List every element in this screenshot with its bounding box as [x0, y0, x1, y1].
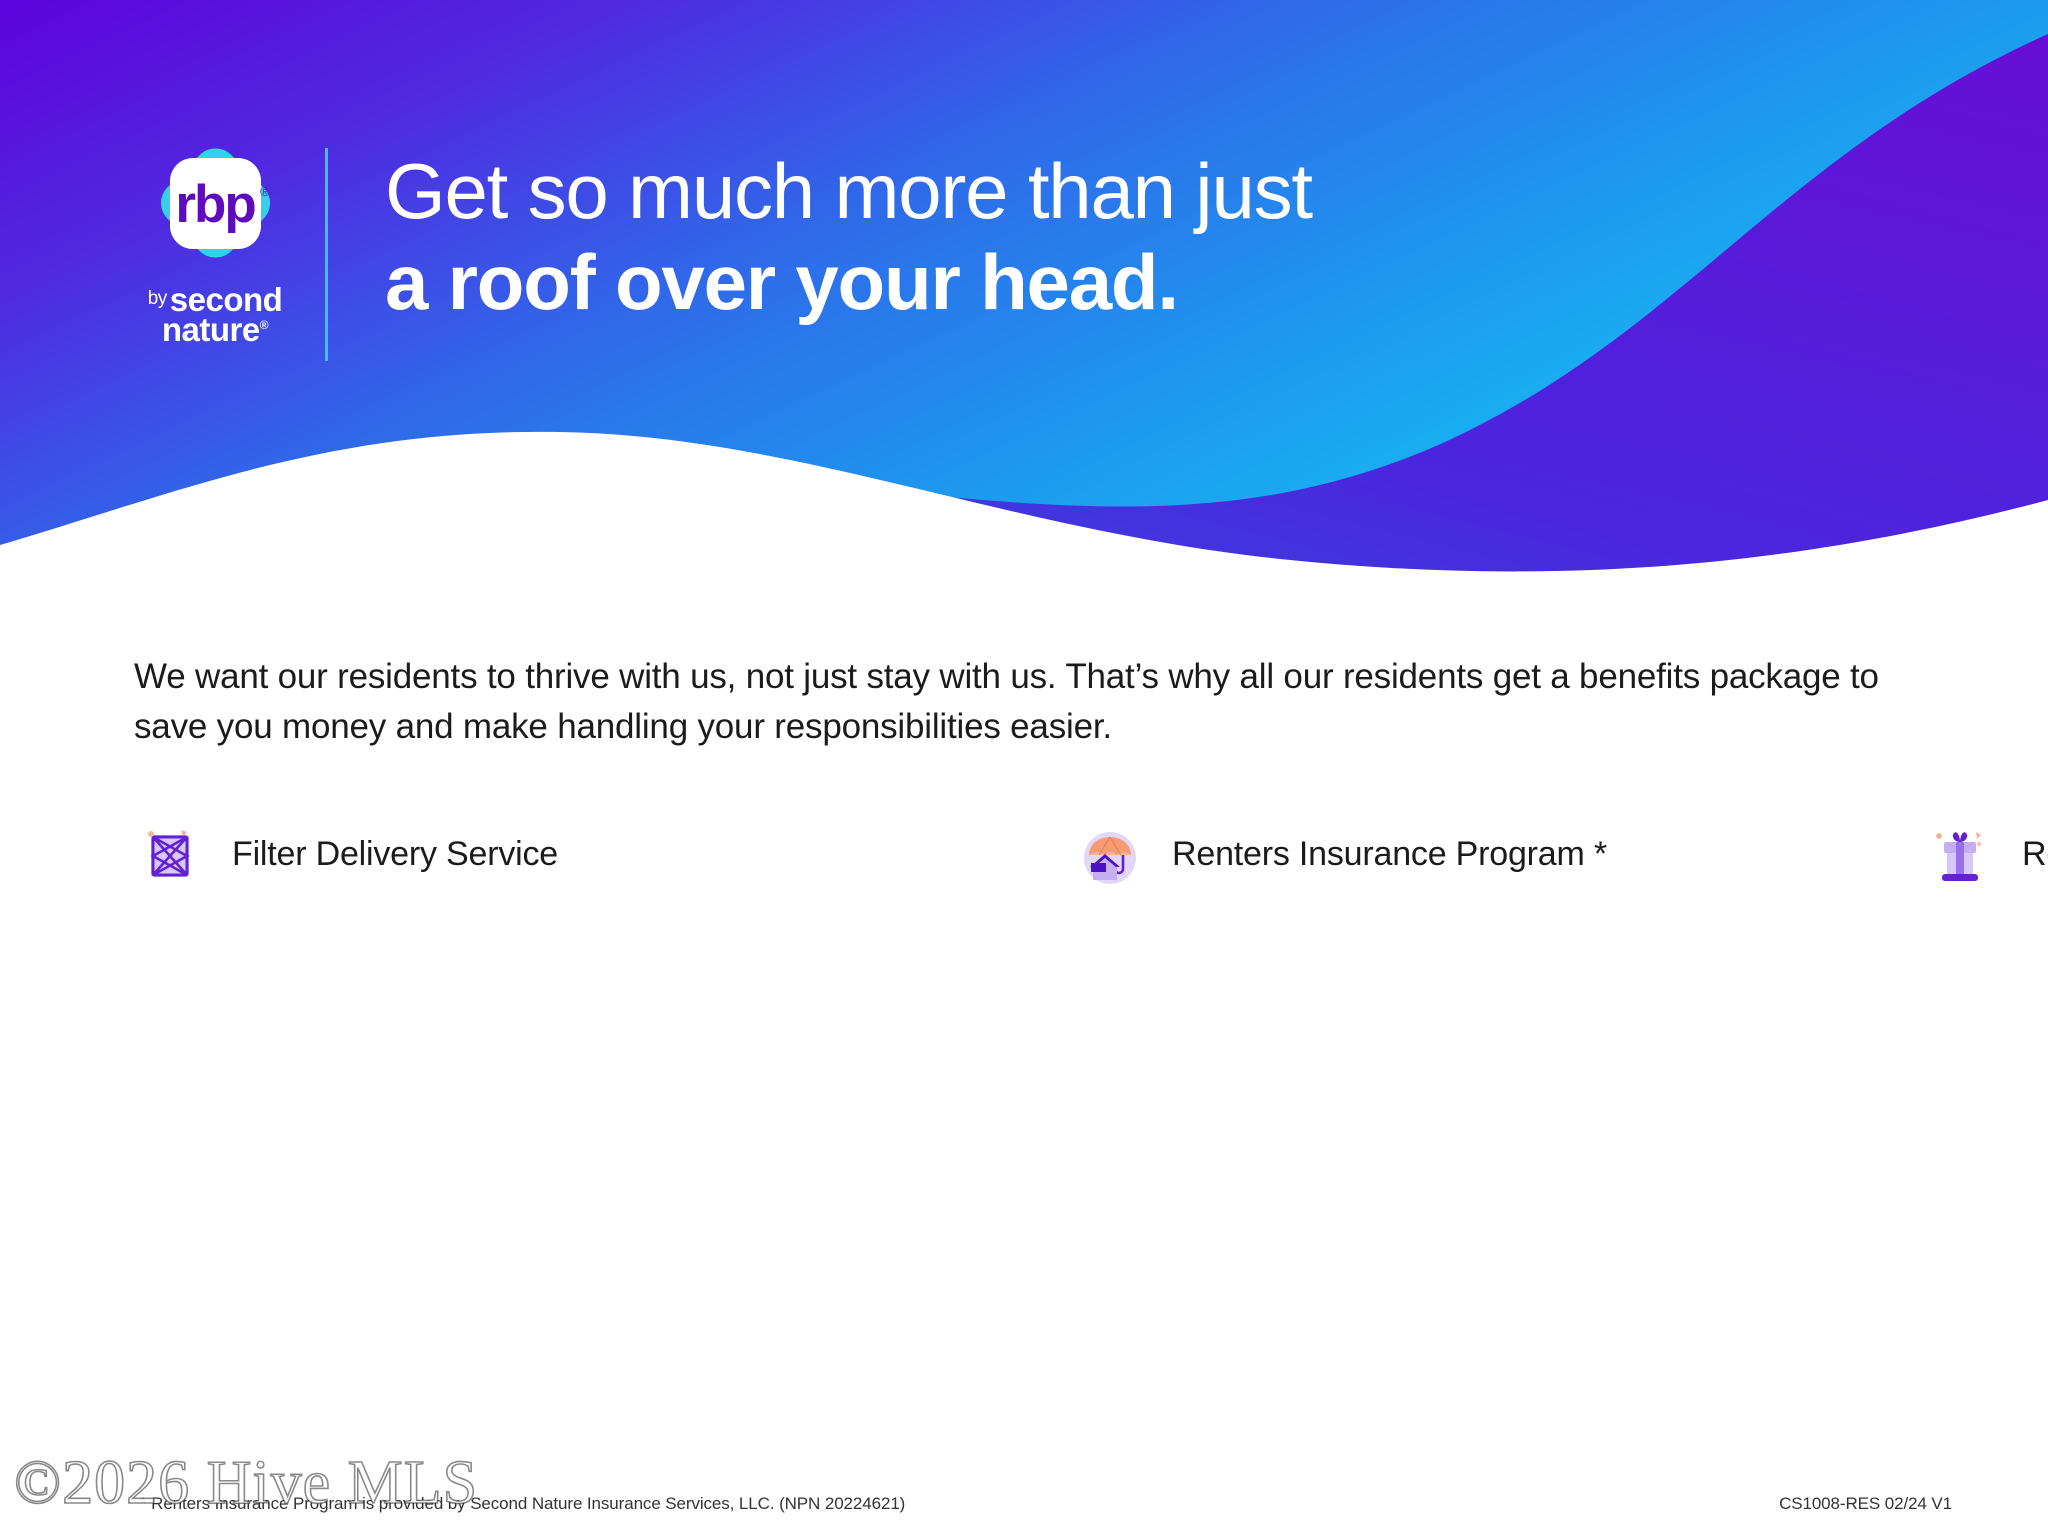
- benefit-label: Renters Insurance Program *: [1172, 835, 1607, 874]
- benefits-list: Filter Delivery Service Rent: [134, 800, 1924, 909]
- benefit-item-renters-insurance: Renters Insurance Program *: [1074, 800, 1924, 909]
- gift-box-icon: [1924, 819, 1996, 891]
- benefit-label: Filter Delivery Service: [232, 835, 558, 874]
- intro-paragraph: We want our residents to thrive with us,…: [134, 652, 1894, 751]
- benefit-label: Resident Rewards Program: [2022, 835, 2048, 874]
- air-filter-icon: [134, 819, 206, 891]
- document-code: CS1008-RES 02/24 V1: [1779, 1494, 1952, 1514]
- legal-footnote: * Renters Insurance Program is provided …: [140, 1494, 905, 1514]
- benefit-item-resident-rewards: Resident Rewards Program: [1924, 800, 2048, 909]
- benefit-item-filter-delivery: Filter Delivery Service: [134, 800, 1074, 909]
- flyer-page: rbp ® bysecond nature® Get so much more …: [0, 0, 2048, 1536]
- umbrella-house-icon: [1074, 819, 1146, 891]
- hero-background-waves: [0, 0, 2048, 600]
- hero-banner: rbp ® bysecond nature® Get so much more …: [0, 0, 2048, 600]
